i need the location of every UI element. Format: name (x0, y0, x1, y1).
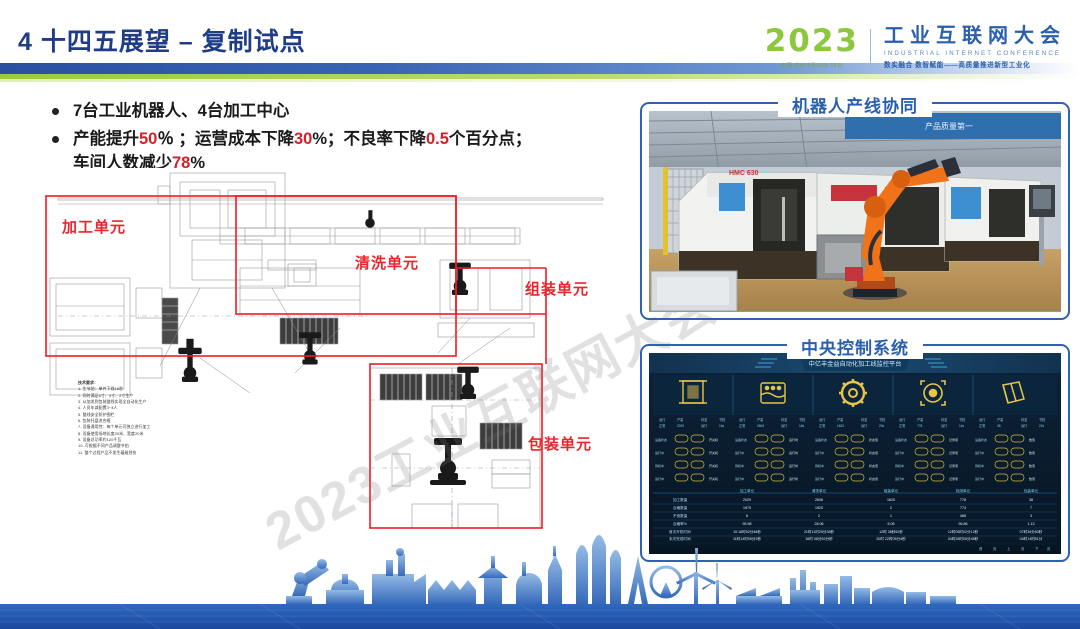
svg-text:运行: 运行 (819, 417, 826, 422)
svg-text:节拍: 节拍 (719, 417, 725, 422)
svg-text:运行: 运行 (739, 417, 746, 422)
technical-requirements-list: 技术要求： 1. 生节拍：单件下线16秒2. 同时满足6寸、3寸、2寸生产3. … (78, 380, 213, 456)
svg-text:记录项: 记录项 (949, 463, 958, 468)
svg-text:产量: 产量 (757, 417, 764, 422)
list-item: 7台工业机器人、4台加工中心 (52, 100, 652, 124)
svg-text:数值: 数值 (1029, 463, 1035, 468)
svg-text:清洗单元: 清洗单元 (812, 488, 827, 493)
svg-text:记录项: 记录项 (949, 437, 958, 442)
logo-year: 2023 (765, 26, 859, 57)
svg-text:待机中: 待机中 (655, 463, 664, 468)
factory-layout-diagram: 加工单元 清洗单元 组装单元 包装单元 技术要求： 1. 生节拍：单件下线16秒… (40, 168, 640, 533)
dashboard-svg: 中亿丰金益自动化加工线监控平台 (649, 353, 1061, 553)
svg-text:节拍: 节拍 (799, 417, 805, 422)
svg-text:状态: 状态 (1021, 417, 1028, 422)
svg-text:状态: 状态 (941, 417, 948, 422)
svg-text:包装单元: 包装单元 (1024, 488, 1039, 493)
svg-text:开关机: 开关机 (709, 437, 718, 442)
svg-text:产量: 产量 (917, 417, 924, 422)
svg-text:待机中: 待机中 (815, 463, 824, 468)
svg-text:开关机: 开关机 (709, 463, 718, 468)
highlight-value: 30 (294, 130, 312, 148)
svg-text:运行时: 运行时 (789, 450, 798, 455)
svg-text:产品质量第一: 产品质量第一 (925, 121, 973, 131)
svg-text:运行: 运行 (659, 417, 666, 422)
svg-text:设备状态: 设备状态 (895, 437, 907, 442)
svg-text:38: 38 (997, 424, 1001, 428)
svg-text:运行时: 运行时 (789, 463, 798, 468)
svg-text:运行: 运行 (899, 417, 906, 422)
bullet-dot-icon (52, 136, 59, 143)
svg-text:运行中: 运行中 (655, 450, 664, 455)
svg-text:中亿丰金益自动化加工线监控平台: 中亿丰金益自动化加工线监控平台 (809, 360, 902, 368)
svg-text:待机中: 待机中 (735, 463, 744, 468)
bullet-line-1: 产能提升50％ ；运营成本下降30%；不良率下降0.5个百分点； (73, 130, 531, 148)
svg-text:产量: 产量 (677, 417, 684, 422)
svg-text:运行中: 运行中 (895, 476, 904, 481)
svg-text:状态值: 状态值 (869, 450, 878, 455)
svg-text:记录项: 记录项 (949, 476, 958, 481)
svg-text:3: 3 (1030, 514, 1032, 518)
svg-text:运行: 运行 (1021, 423, 1028, 428)
svg-text:状态值: 状态值 (869, 437, 878, 442)
cad-label-cleaning: 清洗单元 (355, 252, 419, 273)
svg-text:运行时: 运行时 (789, 476, 798, 481)
svg-text:22s: 22s (1039, 424, 1045, 428)
svg-text:合格率%: 合格率% (673, 521, 688, 526)
svg-text:20s: 20s (879, 424, 885, 428)
svg-text:运行时: 运行时 (789, 437, 798, 442)
svg-text:合格数量: 合格数量 (673, 505, 688, 510)
svg-text:节拍: 节拍 (1039, 417, 1045, 422)
svg-text:运行中: 运行中 (735, 450, 744, 455)
cad-label-assembly: 组装单元 (525, 278, 589, 299)
svg-text:状态: 状态 (701, 417, 708, 422)
svg-text:状态: 状态 (781, 417, 788, 422)
svg-text:1920: 1920 (815, 506, 823, 510)
svg-text:2029: 2029 (677, 424, 684, 428)
logo-year-block: 2023 中国·苏州 6月14日-15日 (765, 26, 861, 69)
svg-text:数值: 数值 (1029, 437, 1035, 442)
svg-text:设备状态: 设备状态 (655, 437, 667, 442)
bullet-text: 7台工业机器人、4台加工中心 (73, 100, 289, 124)
footer-skyline-svg (0, 534, 1080, 629)
title-underline-green-light (0, 79, 1080, 82)
svg-text:运行中: 运行中 (815, 450, 824, 455)
logo-name-cn: 工业互联网大会 (884, 26, 1066, 47)
svg-text:运行中: 运行中 (815, 476, 824, 481)
svg-text:运行中: 运行中 (975, 450, 984, 455)
svg-text:1.13: 1.13 (1028, 522, 1035, 526)
svg-text:不良数量: 不良数量 (673, 513, 688, 518)
svg-text:运行: 运行 (781, 423, 788, 428)
conference-logo: 2023 中国·苏州 6月14日-15日 工业互联网大会 INDUSTRIAL … (765, 26, 1066, 69)
svg-text:1620: 1620 (837, 424, 844, 428)
cad-label-processing: 加工单元 (62, 216, 126, 237)
panel-title-central-control: 中央控制系统 (787, 334, 923, 359)
panel-title-robot-line: 机器人产线协同 (778, 92, 932, 117)
highlight-value: 0.5 (426, 130, 449, 148)
svg-text:开关机: 开关机 (709, 476, 718, 481)
svg-text:状态值: 状态值 (869, 463, 878, 468)
svg-text:正常: 正常 (819, 423, 825, 428)
svg-text:774: 774 (960, 506, 966, 510)
panel-central-control: 中央控制系统 (640, 334, 1070, 562)
svg-text:状态: 状态 (861, 417, 868, 422)
svg-text:38: 38 (1029, 498, 1033, 502)
logo-date: 中国·苏州 6月14日-15日 (765, 62, 859, 69)
notes-items: 1. 生节拍：单件下线16秒2. 同时满足6寸、3寸、2寸生产3. 从加发到包装… (78, 386, 213, 456)
svg-text:待机中: 待机中 (895, 463, 904, 468)
svg-text:1620: 1620 (887, 498, 895, 502)
bullet-dot-icon (52, 108, 59, 115)
logo-name-en: INDUSTRIAL INTERNET CONFERENCE (884, 50, 1066, 57)
logo-divider (870, 29, 871, 69)
svg-text:记录项: 记录项 (949, 450, 958, 455)
logo-slogan: 数实融合 数智赋能——高质量推进新型工业化 (884, 59, 1066, 69)
svg-text:数值: 数值 (1029, 476, 1035, 481)
svg-text:设备状态: 设备状态 (975, 437, 987, 442)
svg-text:数值: 数值 (1029, 450, 1035, 455)
svg-text:运行中: 运行中 (975, 476, 984, 481)
bullet-segment: 7台工业机器人、4台加工中心 (73, 102, 289, 120)
svg-text:节拍: 节拍 (879, 417, 885, 422)
panel-body: 中亿丰金益自动化加工线监控平台 (649, 353, 1061, 554)
bullet-segment: %；不良率下降 (312, 130, 426, 148)
svg-text:加工数量: 加工数量 (673, 497, 688, 502)
footer-skyline (0, 534, 1080, 629)
svg-text:468: 468 (960, 514, 966, 518)
svg-text:运行: 运行 (701, 423, 708, 428)
svg-text:待机中: 待机中 (975, 463, 984, 468)
svg-text:2: 2 (818, 514, 820, 518)
svg-text:运行中: 运行中 (735, 476, 744, 481)
svg-text:运行: 运行 (979, 417, 986, 422)
svg-text:95.98: 95.98 (743, 522, 752, 526)
svg-text:778: 778 (960, 498, 966, 502)
bullet-segment: 个百分点； (449, 130, 532, 148)
svg-text:加工单元: 加工单元 (740, 488, 755, 493)
panel-body: 产品质量第一 (649, 111, 1061, 312)
svg-text:正常: 正常 (899, 423, 905, 428)
cad-label-packaging: 包装单元 (528, 433, 592, 454)
control-dashboard: 中亿丰金益自动化加工线监控平台 (649, 353, 1061, 554)
svg-text:设备状态: 设备状态 (815, 437, 827, 442)
svg-text:运行中: 运行中 (895, 450, 904, 455)
factory-photo: 产品质量第一 (649, 111, 1061, 312)
svg-text:2029: 2029 (743, 498, 751, 502)
svg-text:运行: 运行 (941, 423, 948, 428)
svg-text:产量: 产量 (997, 417, 1004, 422)
bullet-segment: ％ ；运营成本下降 (157, 130, 294, 148)
svg-text:产量: 产量 (837, 417, 844, 422)
page-title: 4 十四五展望 – 复制试点 (18, 22, 306, 58)
svg-text:正常: 正常 (979, 423, 985, 428)
svg-text:1979: 1979 (743, 506, 751, 510)
svg-text:正常: 正常 (659, 423, 665, 428)
svg-text:设备状态: 设备状态 (735, 437, 747, 442)
svg-text:检测单元: 检测单元 (956, 488, 971, 493)
svg-text:5.08: 5.08 (888, 522, 895, 526)
svg-text:1: 1 (890, 514, 892, 518)
cad-drawing (40, 168, 640, 533)
svg-text:7: 7 (1030, 506, 1032, 510)
svg-text:节拍: 节拍 (959, 417, 965, 422)
svg-text:6: 6 (746, 514, 748, 518)
notes-item: 11. 整个过程产品不发生磕碰划伤 (78, 450, 213, 456)
svg-text:2606: 2606 (815, 498, 823, 502)
svg-text:状态值: 状态值 (869, 476, 878, 481)
svg-text:运行: 运行 (861, 423, 868, 428)
svg-text:18s: 18s (799, 424, 805, 428)
svg-text:HMC 630: HMC 630 (729, 170, 759, 177)
svg-text:14s: 14s (959, 424, 965, 428)
svg-text:开关机: 开关机 (709, 450, 718, 455)
svg-text:778: 778 (917, 424, 923, 428)
svg-text:正常: 正常 (739, 423, 745, 428)
svg-text:16s: 16s (719, 424, 725, 428)
svg-text:2: 2 (890, 506, 892, 510)
bullet-segment: 产能提升 (73, 130, 139, 148)
logo-name-block: 工业互联网大会 INDUSTRIAL INTERNET CONFERENCE 数… (880, 26, 1066, 69)
svg-text:96.86: 96.86 (959, 522, 968, 526)
svg-text:2606: 2606 (757, 424, 764, 428)
highlight-value: 50 (139, 130, 157, 148)
svg-text:28.06: 28.06 (815, 522, 824, 526)
svg-text:组装单元: 组装单元 (884, 488, 899, 493)
svg-text:运行中: 运行中 (655, 476, 664, 481)
panel-robot-line: 机器人产线协同 (640, 92, 1070, 320)
factory-photo-svg: 产品质量第一 (649, 111, 1061, 311)
